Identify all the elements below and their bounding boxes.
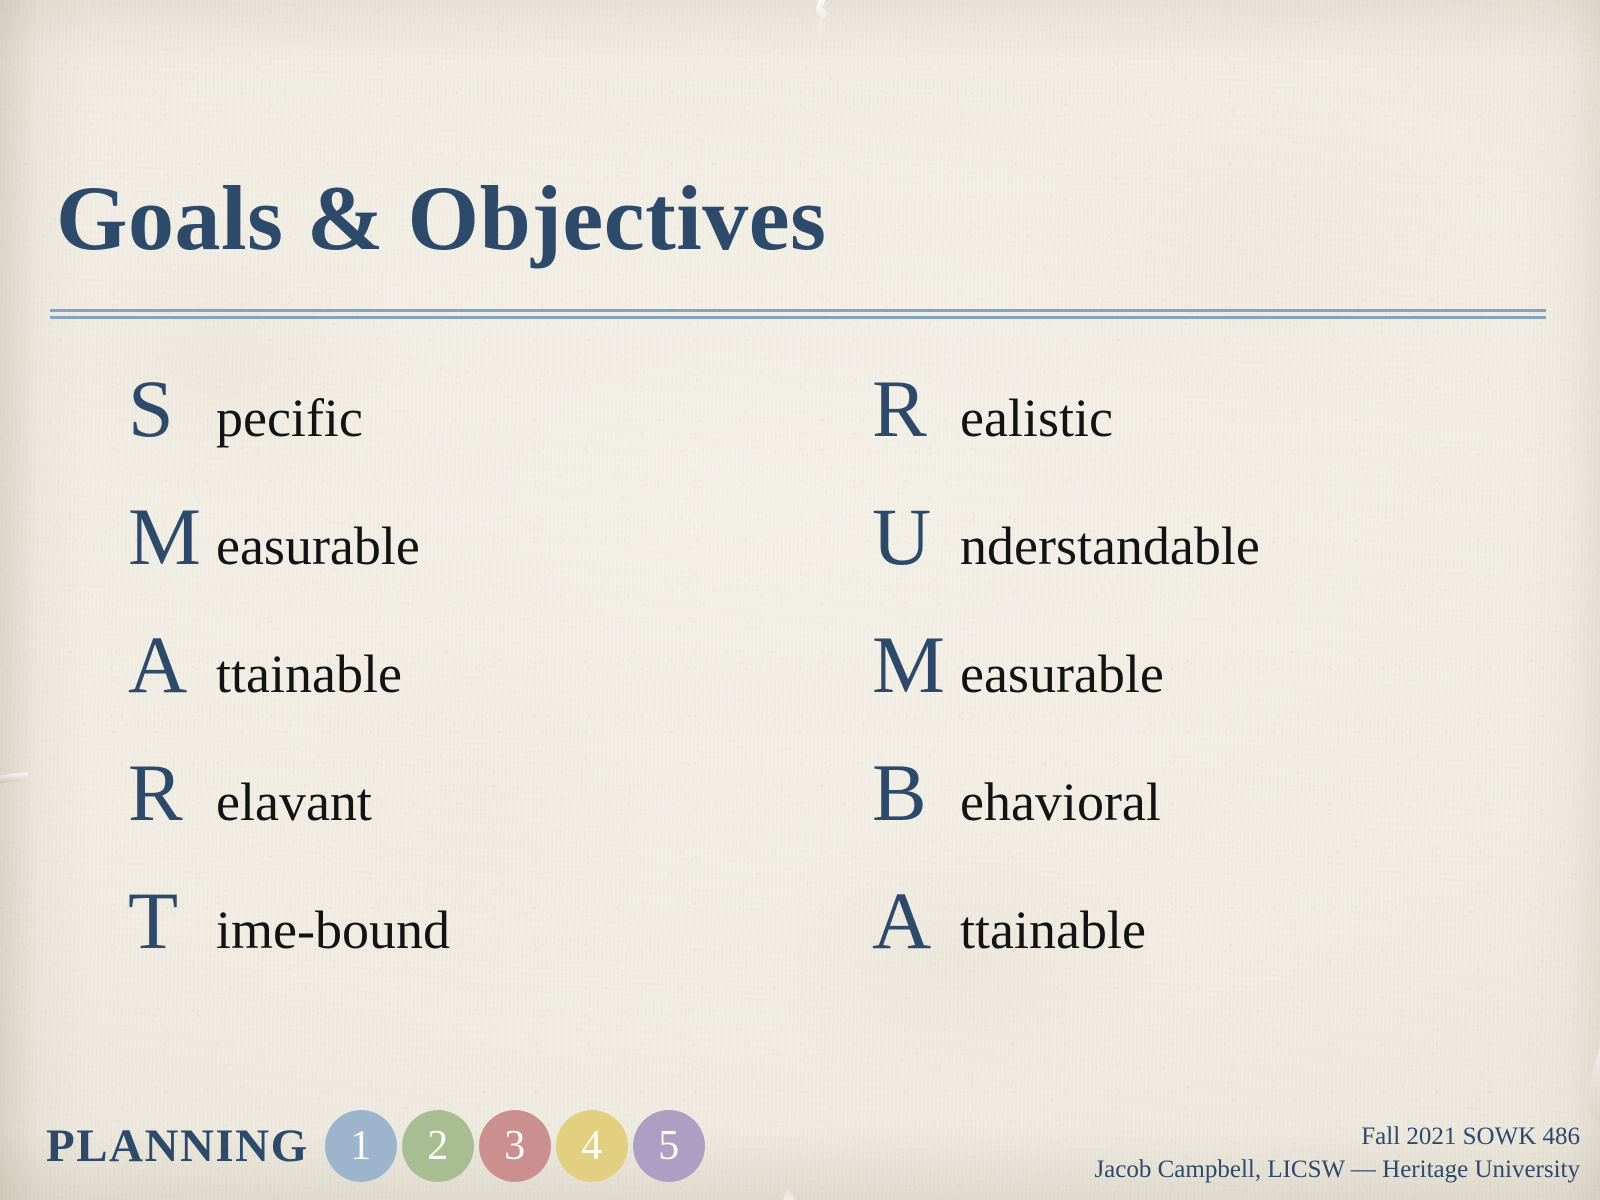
acronym-initial: S [128, 368, 214, 450]
acronym-initial: M [128, 496, 214, 578]
step-dot-4[interactable]: 4 [556, 1110, 628, 1182]
acronym-initial: B [872, 752, 958, 834]
title-divider-line-upper [50, 309, 1546, 312]
instructor-label: Jacob Campbell, LICSW — Heritage Univers… [1094, 1153, 1580, 1186]
acronym-item: A ttainable [128, 624, 748, 752]
acronym-columns: S pecific M easurable A ttainable R elav… [0, 368, 1600, 1008]
slide-title: Goals & Objectives [56, 170, 826, 267]
step-dot-5[interactable]: 5 [633, 1110, 705, 1182]
acronym-word: ime-bound [216, 903, 450, 957]
acronym-item: T ime-bound [128, 880, 748, 1008]
title-divider [50, 309, 1546, 319]
footer-progress: PLANNING 1 2 3 4 5 [46, 1108, 705, 1184]
step-indicator: 1 2 3 4 5 [325, 1110, 705, 1182]
smart-acronym-column: S pecific M easurable A ttainable R elav… [128, 368, 748, 1008]
footer-attribution: Fall 2021 SOWK 486 Jacob Campbell, LICSW… [1094, 1120, 1580, 1186]
acronym-item: U nderstandable [872, 496, 1512, 624]
acronym-item: B ehavioral [872, 752, 1512, 880]
title-divider-line-lower [50, 316, 1546, 319]
acronym-word: ttainable [216, 647, 402, 701]
slide-canvas: Goals & Objectives S pecific M easurable… [0, 0, 1600, 1200]
acronym-word: elavant [216, 775, 372, 829]
acronym-initial: U [872, 496, 958, 578]
acronym-item: R elavant [128, 752, 748, 880]
acronym-word: easurable [960, 647, 1164, 701]
acronym-initial: A [872, 880, 958, 962]
acronym-initial: M [872, 624, 958, 706]
section-label: PLANNING [46, 1123, 309, 1170]
acronym-initial: R [128, 752, 214, 834]
acronym-word: ttainable [960, 903, 1146, 957]
acronym-item: R ealistic [872, 368, 1512, 496]
step-dot-3[interactable]: 3 [479, 1110, 551, 1182]
acronym-word: ealistic [960, 391, 1113, 445]
acronym-initial: T [128, 880, 214, 962]
step-dot-1[interactable]: 1 [325, 1110, 397, 1182]
rumba-acronym-column: R ealistic U nderstandable M easurable B… [872, 368, 1512, 1008]
acronym-item: A ttainable [872, 880, 1512, 1008]
acronym-word: easurable [216, 519, 420, 573]
acronym-item: S pecific [128, 368, 748, 496]
acronym-item: M easurable [128, 496, 748, 624]
acronym-word: pecific [216, 391, 363, 445]
acronym-initial: A [128, 624, 214, 706]
acronym-item: M easurable [872, 624, 1512, 752]
slide-content: Goals & Objectives S pecific M easurable… [0, 0, 1600, 1200]
acronym-initial: R [872, 368, 958, 450]
course-label: Fall 2021 SOWK 486 [1094, 1120, 1580, 1153]
acronym-word: ehavioral [960, 775, 1161, 829]
acronym-word: nderstandable [960, 519, 1260, 573]
step-dot-2[interactable]: 2 [402, 1110, 474, 1182]
